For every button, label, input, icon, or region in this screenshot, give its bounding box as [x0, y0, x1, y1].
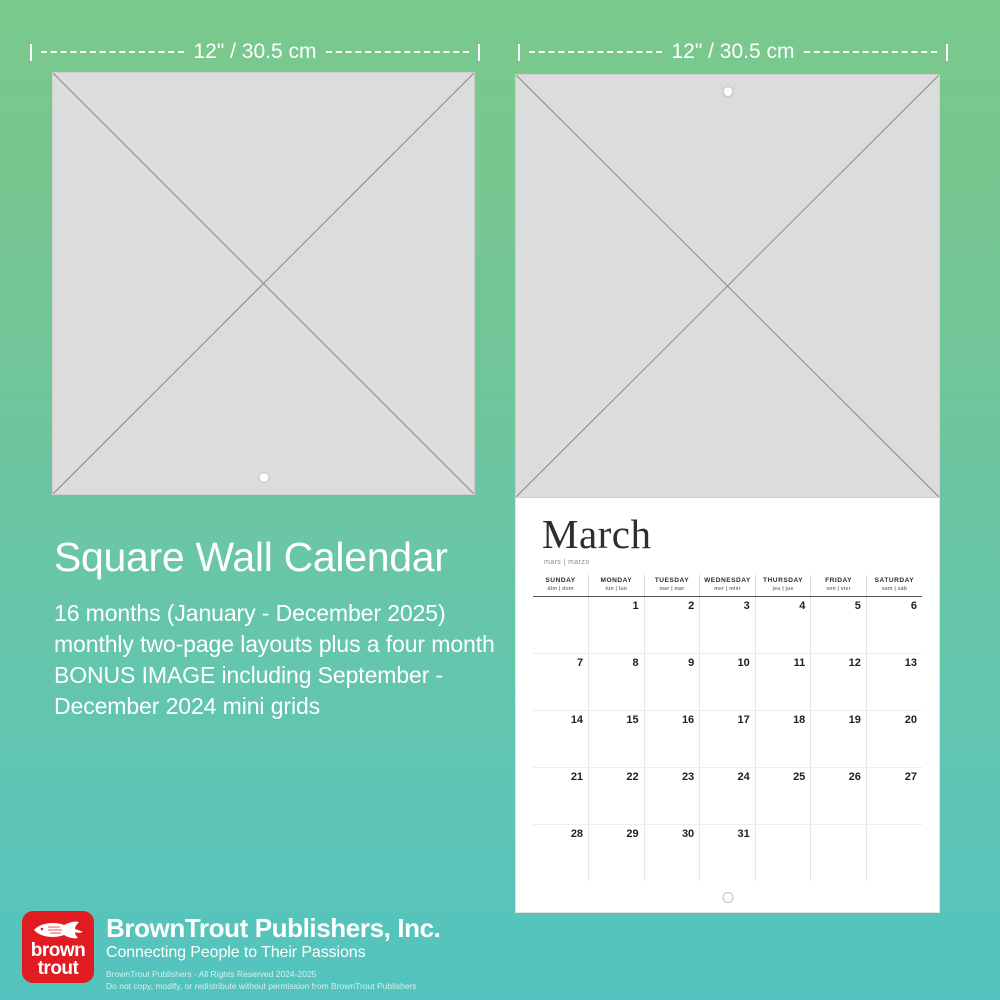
logo-text-trout: trout	[38, 960, 79, 978]
dow-name: SUNDAY	[533, 577, 588, 586]
calendar-day-header-monday: MONDAY lun | lun	[589, 575, 645, 596]
dash-run-right	[804, 51, 937, 53]
legal-line-2: Do not copy, modify, or redistribute wit…	[106, 981, 440, 992]
calendar-day-cell[interactable]: 1	[589, 596, 645, 653]
endcap-right	[946, 44, 948, 61]
dow-name: FRIDAY	[811, 577, 866, 586]
footer-branding: brown trout BrownTrout Publishers, Inc. …	[22, 911, 440, 992]
dow-sub: mar | mar	[645, 586, 700, 593]
dimension-top-left-label: 12" / 30.5 cm	[193, 40, 316, 64]
dow-sub: ven | vier	[811, 586, 866, 593]
brand-text-column: BrownTrout Publishers, Inc. Connecting P…	[106, 911, 440, 992]
dow-sub: jeu | jue	[756, 586, 811, 593]
calendar-day-cell[interactable]: 18	[755, 710, 811, 767]
calendar-day-cell[interactable]: 5	[811, 596, 867, 653]
calendar-month-title: March	[516, 498, 939, 555]
calendar-day-cell[interactable]: 15	[589, 710, 645, 767]
dash-run-left	[529, 51, 662, 53]
calendar-day-header-wednesday: WEDNESDAY mer | miér	[700, 575, 756, 596]
calendar-day-cell[interactable]: 6	[866, 596, 922, 653]
calendar-day-cell[interactable]: 22	[589, 767, 645, 824]
dimension-top-right-label: 12" / 30.5 cm	[671, 40, 794, 64]
dow-name: SATURDAY	[867, 577, 922, 586]
calendar-day-header-thursday: THURSDAY jeu | jue	[755, 575, 811, 596]
legal-line-1: BrownTrout Publishers - All Rights Reser…	[106, 969, 440, 980]
calendar-grid: SUNDAY dim | dom MONDAY lun | lun TUESDA…	[533, 575, 922, 881]
punch-hole	[722, 892, 733, 903]
calendar-day-cell[interactable]: 27	[866, 767, 922, 824]
calendar-day-cell[interactable]: 24	[700, 767, 756, 824]
company-tagline: Connecting People to Their Passions	[106, 944, 440, 962]
endcap-right	[478, 44, 480, 61]
calendar-day-header-friday: FRIDAY ven | vier	[811, 575, 867, 596]
trout-fish-icon	[30, 918, 86, 942]
calendar-day-cell[interactable]: 26	[811, 767, 867, 824]
company-name: BrownTrout Publishers, Inc.	[106, 915, 440, 942]
calendar-week-row: 7 8 9 10 11 12 13	[533, 653, 922, 710]
placeholder-cross-icon	[53, 73, 474, 494]
calendar-day-cell[interactable]: 12	[811, 653, 867, 710]
dash-run-left	[41, 51, 184, 53]
calendar-week-row: 1 2 3 4 5 6	[533, 596, 922, 653]
calendar-day-cell[interactable]: 28	[533, 824, 589, 881]
calendar-day-cell[interactable]: 16	[644, 710, 700, 767]
dow-sub: sam | sáb	[867, 586, 922, 593]
dow-name: THURSDAY	[756, 577, 811, 586]
calendar-day-cell[interactable]: 9	[644, 653, 700, 710]
calendar-day-header-sunday: SUNDAY dim | dom	[533, 575, 589, 596]
calendar-day-cell[interactable]: 25	[755, 767, 811, 824]
calendar-header-row: SUNDAY dim | dom MONDAY lun | lun TUESDA…	[533, 575, 922, 596]
calendar-day-cell[interactable]: 13	[866, 653, 922, 710]
dash-run-right	[326, 51, 469, 53]
calendar-day-cell[interactable]: 30	[644, 824, 700, 881]
calendar-week-row: 21 22 23 24 25 26 27	[533, 767, 922, 824]
calendar-day-cell[interactable]: 14	[533, 710, 589, 767]
promo-block: Square Wall Calendar 16 months (January …	[54, 535, 514, 722]
endcap-left	[518, 44, 520, 61]
punch-hole	[722, 86, 733, 97]
calendar-day-cell[interactable]: 23	[644, 767, 700, 824]
calendar-day-cell[interactable]: 10	[700, 653, 756, 710]
calendar-week-row: 14 15 16 17 18 19 20	[533, 710, 922, 767]
calendar-day-cell[interactable]: 8	[589, 653, 645, 710]
dow-name: WEDNESDAY	[700, 577, 755, 586]
calendar-day-header-saturday: SATURDAY sam | sáb	[866, 575, 922, 596]
calendar-day-cell[interactable]: 19	[811, 710, 867, 767]
calendar-day-cell[interactable]: 4	[755, 596, 811, 653]
dow-name: TUESDAY	[645, 577, 700, 586]
punch-hole	[258, 472, 269, 483]
calendar-day-cell[interactable]	[811, 824, 867, 881]
dow-sub: lun | lun	[589, 586, 644, 593]
dimension-right-side: 24" / 61 cm	[963, 75, 1000, 913]
dimension-top-left: 12" / 30.5 cm	[30, 40, 480, 64]
calendar-day-cell[interactable]: 21	[533, 767, 589, 824]
calendar-day-header-tuesday: TUESDAY mar | mar	[644, 575, 700, 596]
page-title: Square Wall Calendar	[54, 535, 514, 580]
calendar-day-cell[interactable]: 11	[755, 653, 811, 710]
calendar-sheet: March mars | marzo SUNDAY dim | dom MOND…	[515, 498, 940, 913]
dimension-top-right: 12" / 30.5 cm	[518, 40, 948, 64]
legal-notice: BrownTrout Publishers - All Rights Reser…	[106, 969, 440, 992]
calendar-week-row: 28 29 30 31	[533, 824, 922, 881]
browntrout-logo: brown trout	[22, 911, 94, 983]
placeholder-cross-icon	[516, 75, 939, 497]
calendar-day-cell[interactable]: 29	[589, 824, 645, 881]
cover-image-placeholder	[52, 72, 475, 495]
promo-description: 16 months (January - December 2025) mont…	[54, 598, 514, 722]
calendar-day-cell[interactable]	[755, 824, 811, 881]
endcap-left	[30, 44, 32, 61]
dow-sub: mer | miér	[700, 586, 755, 593]
calendar-day-cell[interactable]	[866, 824, 922, 881]
calendar-day-cell[interactable]: 17	[700, 710, 756, 767]
calendar-day-cell[interactable]: 7	[533, 653, 589, 710]
calendar-day-cell[interactable]: 2	[644, 596, 700, 653]
dow-name: MONDAY	[589, 577, 644, 586]
calendar-day-cell[interactable]: 31	[700, 824, 756, 881]
calendar-day-cell[interactable]: 3	[700, 596, 756, 653]
calendar-day-cell[interactable]	[533, 596, 589, 653]
calendar-day-cell[interactable]: 20	[866, 710, 922, 767]
calendar-image-placeholder	[515, 74, 940, 498]
dow-sub: dim | dom	[533, 586, 588, 593]
